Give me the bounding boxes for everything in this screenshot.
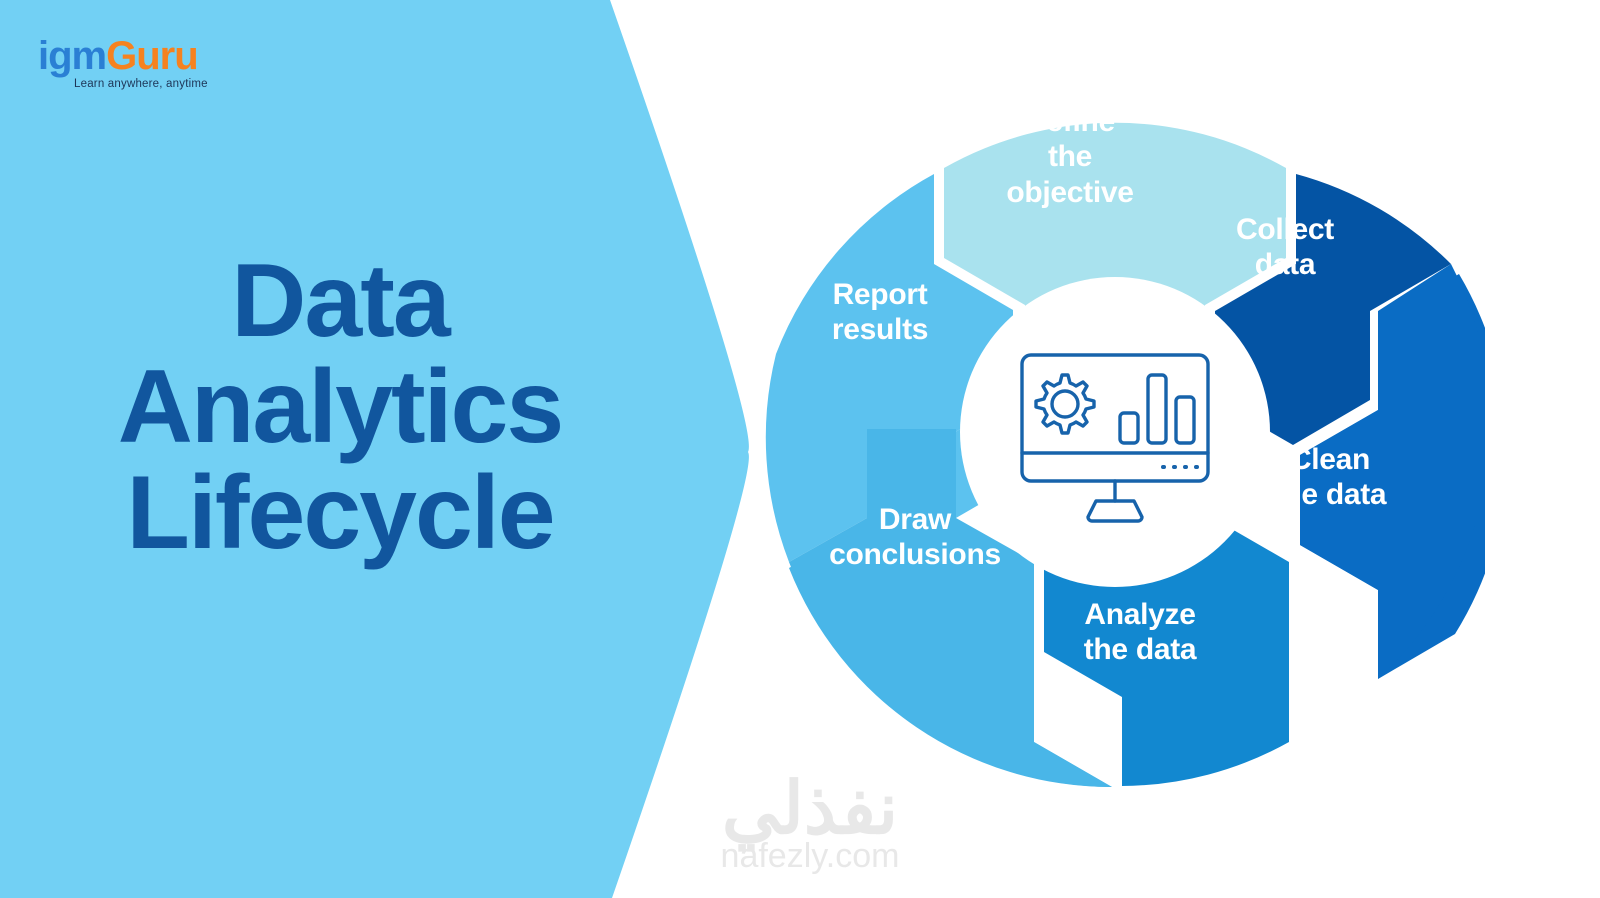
title-line-3: Lifecycle [0, 460, 680, 566]
logo-wordmark: igmGuru [38, 36, 278, 76]
watermark: نفذلي nafezly.com [660, 775, 960, 885]
watermark-latin-text: nafezly.com [660, 839, 960, 873]
logo-tagline: Learn anywhere, anytime [74, 78, 278, 90]
title-line-2: Analytics [0, 354, 680, 460]
bar-chart-icon [1120, 375, 1194, 443]
infographic-canvas: igmGuru Learn anywhere, anytime Data Ana… [0, 0, 1600, 898]
logo-text-guru: Guru [106, 34, 198, 78]
logo-text-igm: igm [38, 34, 106, 78]
igmguru-logo: igmGuru Learn anywhere, anytime [38, 36, 278, 98]
monitor-screen-icon [1022, 355, 1208, 481]
page-title: Data Analytics Lifecycle [0, 248, 680, 566]
gear-icon [1036, 375, 1094, 433]
title-line-1: Data [0, 248, 680, 354]
monitor-gear-bar-chart-icon [1000, 317, 1230, 547]
watermark-arabic-text: نفذلي [660, 775, 960, 843]
lifecycle-donut-chart: Define the objective Collect data Clean … [745, 62, 1485, 802]
monitor-base-icon [1088, 501, 1142, 521]
